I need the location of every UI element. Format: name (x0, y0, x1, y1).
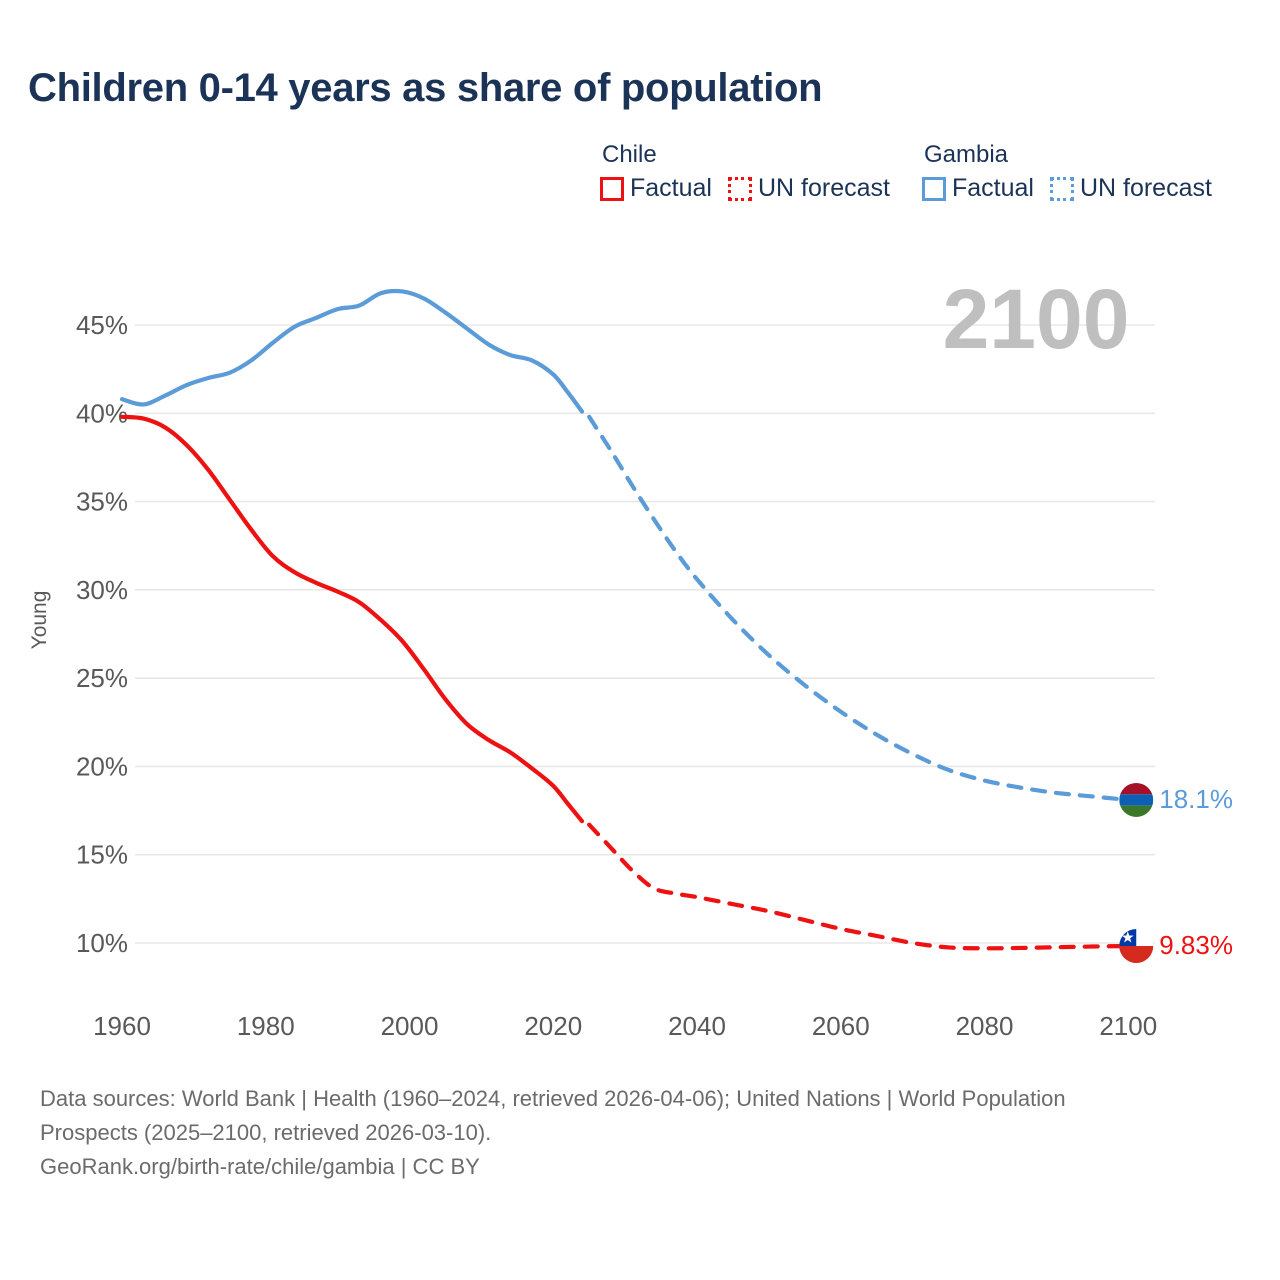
end-label-gambia: 18.1% (1159, 784, 1233, 814)
line-chart-svg: 10%15%20%25%30%35%40%45%Young21001960198… (0, 0, 1280, 1060)
y-axis-tick-label: 25% (76, 663, 128, 693)
gambia-flag-band-green (1119, 806, 1153, 817)
series-line-chile-un-forecast (589, 825, 1128, 949)
chile-flag-red (1119, 946, 1153, 963)
gambia-flag-band-red (1119, 783, 1153, 794)
series-line-chile-factual (122, 417, 582, 821)
chart-footer: Data sources: World Bank | Health (1960–… (40, 1082, 1240, 1184)
x-axis-tick-label: 2060 (812, 1011, 870, 1041)
series-line-gambia-un-forecast (589, 417, 1128, 800)
series-line-gambia-factual (122, 291, 582, 412)
gambia-flag-band-blue (1119, 794, 1153, 805)
gambia-flag-icon (1119, 783, 1153, 817)
y-axis-tick-label: 30% (76, 575, 128, 605)
chart-page: Children 0-14 years as share of populati… (0, 0, 1280, 1280)
plot-area: 10%15%20%25%30%35%40%45%Young21001960198… (0, 0, 1280, 1060)
end-label-chile: 9.83% (1159, 930, 1233, 960)
chile-flag-icon (1119, 929, 1153, 963)
x-axis-tick-label: 1960 (93, 1011, 151, 1041)
y-axis-tick-label: 15% (76, 840, 128, 870)
x-axis-tick-label: 2100 (1099, 1011, 1157, 1041)
x-axis-tick-label: 2020 (524, 1011, 582, 1041)
x-axis-tick-label: 2040 (668, 1011, 726, 1041)
year-watermark: 2100 (943, 272, 1130, 366)
footer-data-sources: Data sources: World Bank | Health (1960–… (40, 1082, 1140, 1150)
y-axis-tick-label: 45% (76, 310, 128, 340)
y-axis-tick-label: 40% (76, 398, 128, 428)
y-axis-tick-label: 20% (76, 751, 128, 781)
x-axis-tick-label: 2080 (956, 1011, 1014, 1041)
footer-attribution: GeoRank.org/birth-rate/chile/gambia | CC… (40, 1150, 1240, 1184)
x-axis-tick-label: 2000 (381, 1011, 439, 1041)
y-axis-tick-label: 10% (76, 928, 128, 958)
y-axis-tick-label: 35% (76, 487, 128, 517)
y-axis-title: Young (28, 591, 51, 650)
x-axis-tick-label: 1980 (237, 1011, 295, 1041)
